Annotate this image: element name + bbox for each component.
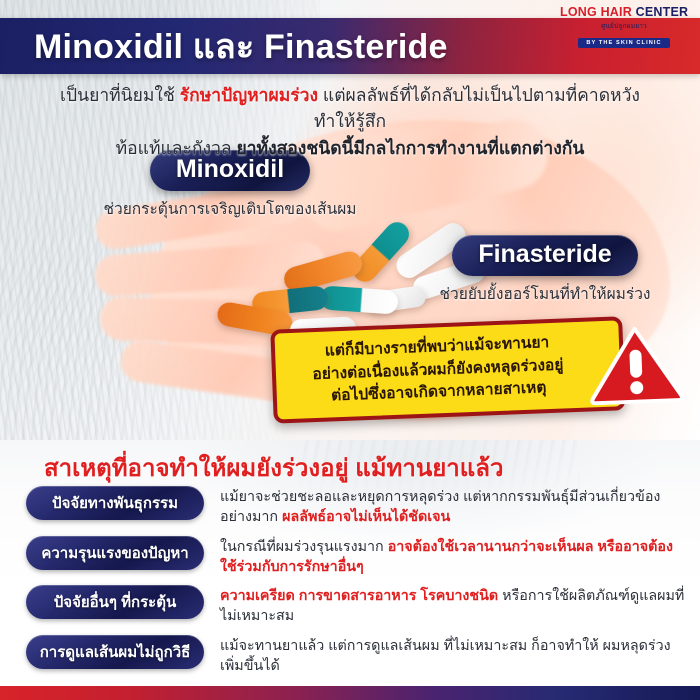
logo-subtitle: ศูนย์ปลูกผมยาว xyxy=(560,21,688,31)
drug-description: ช่วยกระตุ้นการเจริญเติบโตของเส้นผม xyxy=(95,196,365,221)
intro-line1-highlight: รักษาปัญหาผมร่วง xyxy=(180,85,318,105)
warning-line-3: ต่อไปซึ่งอาจเกิดจากหลายสาเหตุ xyxy=(331,380,547,405)
cause-text-highlight: ผลลัพธ์อาจไม่เห็นได้ชัดเจน xyxy=(282,509,450,525)
page-title: Minoxidil และ Finasteride xyxy=(34,19,448,73)
cause-badge: ปัจจัยอื่นๆ ที่กระตุ้น xyxy=(26,585,204,619)
causes-section: สาเหตุที่อาจทำให้ผมยังร่วงอยู่ แม้ทานยาแ… xyxy=(0,440,700,686)
warning-line-1: แต่ก็มีบางรายที่พบว่าแม้จะทานยา xyxy=(325,334,550,360)
warning-callout: แต่ก็มีบางรายที่พบว่าแม้จะทานยา อย่างต่อ… xyxy=(270,314,673,427)
cause-description: ในกรณีที่ผมร่วงรุนแรงมาก อาจต้องใช้เวลาน… xyxy=(220,536,686,578)
cause-text-a: แม้จะทานยาแล้ว แต่การดูแลเส้นผม ที่ไม่เห… xyxy=(220,638,671,674)
intro-line2-bold: ยาทั้งสองชนิดนี้มีกลไกการทำงานที่แตกต่าง… xyxy=(236,138,584,158)
footer-bar xyxy=(0,686,700,700)
cause-description: แม้ยาจะช่วยชะลอและหยุดการหลุดร่วง แต่หาก… xyxy=(220,486,686,528)
intro-paragraph: เป็นยาที่นิยมใช้ รักษาปัญหาผมร่วง แต่ผลล… xyxy=(0,82,700,161)
intro-line1-b: แต่ผลลัพธ์ที่ได้กลับไม่เป็นไปตามที่คาดหว… xyxy=(314,85,640,131)
logo-badge: BY THE SKIN CLINIC xyxy=(578,38,669,48)
brand-logo: LONG HAIR CENTER ศูนย์ปลูกผมยาว BY THE S… xyxy=(560,6,688,49)
cause-badge: การดูแลเส้นผมไม่ถูกวิธี xyxy=(26,635,204,669)
drug-name-chip: Finasteride xyxy=(452,235,637,276)
warning-text: แต่ก็มีบางรายที่พบว่าแม้จะทานยา อย่างต่อ… xyxy=(297,330,598,410)
warning-line-2: อย่างต่อเนื่องแล้วผมก็ยังคงหลุดร่วงอยู่ xyxy=(312,356,564,383)
warning-box: แต่ก็มีบางรายที่พบว่าแม้จะทานยา อย่างต่อ… xyxy=(270,316,625,423)
logo-text-center: CENTER xyxy=(636,5,689,19)
section-title: สาเหตุที่อาจทำให้ผมยังร่วงอยู่ แม้ทานยาแ… xyxy=(44,448,503,487)
cause-badge: ความรุนแรงของปัญหา xyxy=(26,536,204,570)
cause-badge: ปัจจัยทางพันธุกรรม xyxy=(26,486,204,520)
drug-label-finasteride: Finasteride ช่วยยับยั้งฮอร์โมนที่ทำให้ผม… xyxy=(400,235,690,306)
causes-list: ปัจจัยทางพันธุกรรม แม้ยาจะช่วยชะลอและหยุ… xyxy=(0,486,700,684)
cause-description: แม้จะทานยาแล้ว แต่การดูแลเส้นผม ที่ไม่เห… xyxy=(220,635,686,677)
warning-triangle-icon xyxy=(586,324,685,406)
intro-line1-a: เป็นยาที่นิยมใช้ xyxy=(60,85,180,105)
logo-text-long-hair: LONG HAIR xyxy=(560,5,632,19)
list-item: ปัจจัยทางพันธุกรรม แม้ยาจะช่วยชะลอและหยุ… xyxy=(0,486,700,528)
poster-root: Minoxidil ช่วยกระตุ้นการเจริญเติบโตของเส… xyxy=(0,0,700,700)
list-item: ความรุนแรงของปัญหา ในกรณีที่ผมร่วงรุนแรง… xyxy=(0,536,700,578)
cause-text-a: ในกรณีที่ผมร่วงรุนแรงมาก xyxy=(220,539,388,555)
intro-line2-a: ท้อแท้และกังวล xyxy=(116,138,237,158)
cause-description: ความเครียด การขาดสารอาหาร โรคบางชนิด หรื… xyxy=(220,585,686,627)
logo-wordmark: LONG HAIR CENTER xyxy=(560,6,688,19)
list-item: ปัจจัยอื่นๆ ที่กระตุ้น ความเครียด การขาด… xyxy=(0,585,700,627)
drug-description: ช่วยยับยั้งฮอร์โมนที่ทำให้ผมร่วง xyxy=(400,281,690,306)
cause-text-highlight: ความเครียด การขาดสารอาหาร โรคบางชนิด xyxy=(220,588,498,604)
list-item: การดูแลเส้นผมไม่ถูกวิธี แม้จะทานยาแล้ว แ… xyxy=(0,635,700,677)
